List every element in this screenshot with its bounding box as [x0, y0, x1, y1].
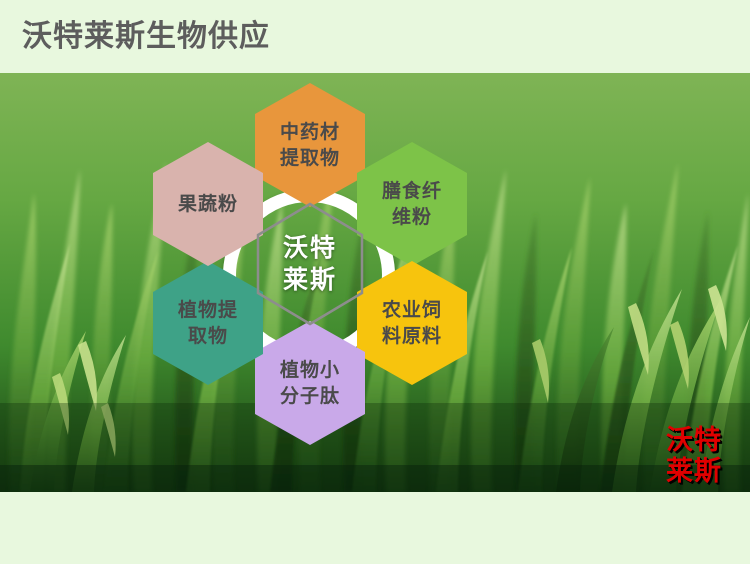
brand-mark-watermark: 沃特 莱斯	[666, 425, 722, 487]
hex-label: 果蔬粉	[172, 191, 244, 217]
brand-mark-line1: 沃特	[666, 425, 722, 456]
hex-label: 植物小 分子肽	[274, 357, 346, 409]
hex-label: 农业饲 料原料	[376, 297, 448, 349]
header-band: 沃特莱斯生物供应	[0, 0, 750, 73]
page-root: 沃特莱斯生物供应	[0, 0, 750, 564]
hexagon-wheel: 中药材 提取物 膳食纤 维粉 农业饲 料原料 植物小 分子肽	[125, 83, 495, 483]
page-title: 沃特莱斯生物供应	[22, 18, 270, 56]
hex-center-brand[interactable]: 沃特 莱斯	[255, 202, 365, 326]
hex-label: 植物提 取物	[172, 297, 244, 349]
hex-tcm-extract[interactable]: 中药材 提取物	[255, 83, 365, 207]
hex-label: 中药材 提取物	[274, 119, 346, 171]
footer-band	[0, 492, 750, 564]
hex-center-label: 沃特 莱斯	[255, 202, 365, 326]
hero-section: 中药材 提取物 膳食纤 维粉 农业饲 料原料 植物小 分子肽	[0, 73, 750, 492]
brand-mark-line2: 莱斯	[666, 456, 722, 487]
hex-label: 膳食纤 维粉	[376, 178, 448, 230]
